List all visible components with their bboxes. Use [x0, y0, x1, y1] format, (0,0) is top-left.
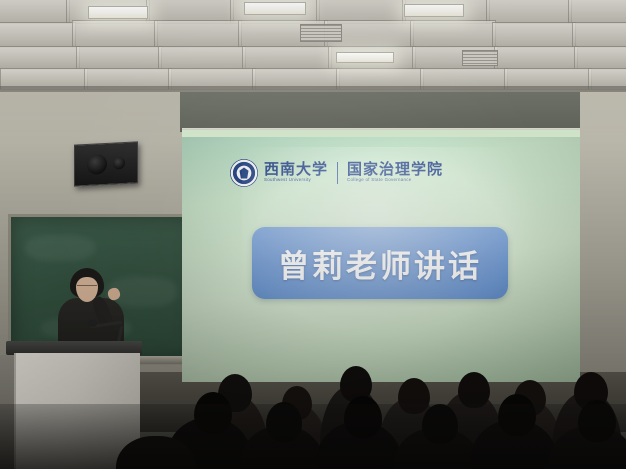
ceiling-light [88, 6, 148, 19]
ceiling-vent [300, 24, 342, 42]
ceiling-vent [462, 50, 498, 66]
ceiling-light [336, 52, 394, 63]
college-name-cn: 国家治理学院 [347, 163, 443, 179]
college-name-block: 国家治理学院 College of State Governance [347, 163, 443, 184]
presenter-glasses [77, 285, 97, 291]
speaker-cone [113, 157, 125, 170]
slide-surface: 西南大学 Southwest University 国家治理学院 College… [182, 137, 580, 382]
ceiling-light [244, 2, 306, 15]
slide-title-text: 曾莉老师讲话 [278, 241, 482, 286]
photo-scene: 西南大学 Southwest University 国家治理学院 College… [0, 0, 626, 469]
wall-above-screen [180, 92, 580, 132]
university-name-en: Southwest University [264, 178, 328, 183]
speaker-cone [87, 154, 107, 175]
projection-screen: 西南大学 Southwest University 国家治理学院 College… [182, 130, 580, 382]
logo-divider [337, 162, 338, 184]
university-name-cn: 西南大学 [264, 163, 328, 179]
slide-logo: 西南大学 Southwest University 国家治理学院 College… [230, 159, 443, 187]
wall-speaker-icon [74, 141, 138, 186]
southwest-university-crest-icon [230, 159, 258, 187]
ceiling-light [404, 4, 464, 17]
slide-title-card: 曾莉老师讲话 [252, 227, 508, 299]
ceiling [0, 0, 626, 96]
audience-foreground-shadow [0, 404, 626, 469]
university-name-block: 西南大学 Southwest University [264, 163, 328, 184]
college-name-en: College of State Governance [347, 178, 443, 183]
